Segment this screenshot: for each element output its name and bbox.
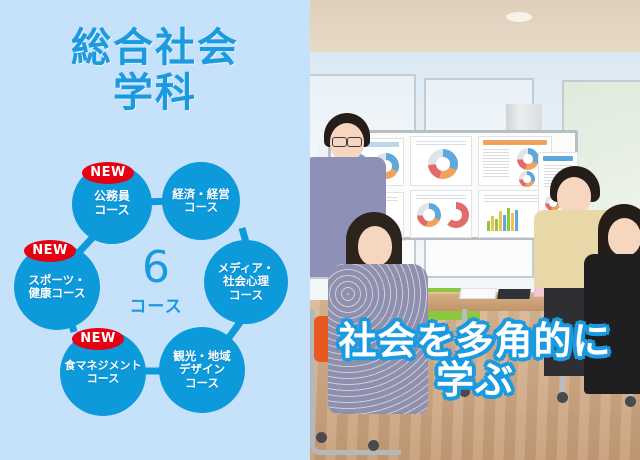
poster-text-lines [483, 149, 509, 177]
course-hexagon-diagram: 6 コース 公務員 コース NEW 経済・経営 コース メディア・ 社会心理 コ… [4, 152, 306, 444]
tablet-device [497, 289, 530, 299]
poster-text-lines [416, 195, 466, 199]
photo-scene: 社会を多角的に 学ぶ [310, 0, 640, 460]
course-node-komuin-label: 公務員 コース [94, 190, 130, 218]
page-title: 総合社会 学科 [0, 26, 310, 116]
poster-bar-chart [487, 207, 518, 231]
new-badge-komuin: NEW [82, 162, 134, 184]
glasses-icon [347, 137, 362, 147]
photo-caption-line1: 社会を多角的に [310, 322, 640, 361]
course-node-kanko[interactable]: 観光・地域 デザイン コース [159, 327, 245, 413]
face [358, 226, 392, 266]
poster-donut-chart [428, 149, 458, 179]
course-node-sports-label: スポーツ・ 健康コース [28, 274, 85, 300]
course-count: 6 コース [108, 246, 204, 317]
poster-text-lines [416, 141, 466, 146]
page-title-line1: 総合社会 [0, 26, 310, 71]
poster-item [410, 136, 472, 186]
chair-caster [316, 432, 327, 443]
course-count-number: 6 [108, 246, 204, 290]
course-node-media[interactable]: メディア・ 社会心理 コース [204, 240, 288, 324]
course-node-shoku-label: 食マネジメント コース [65, 360, 142, 385]
photo-caption: 社会を多角的に 学ぶ [310, 322, 640, 400]
poster-donut-chart [443, 202, 469, 228]
course-node-kanko-label: 観光・地域 デザイン コース [173, 350, 231, 390]
classroom-photo: 社会を多角的に 学ぶ [310, 0, 640, 460]
ceiling-light-icon [506, 12, 532, 22]
poster-text-lines [484, 195, 546, 204]
left-info-panel: 総合社会 学科 6 コース 公務員 コース NE [0, 0, 310, 460]
new-badge-shoku: NEW [72, 328, 124, 350]
photo-caption-line2: 学ぶ [310, 361, 640, 400]
course-node-keizai-label: 経済・経営 コース [172, 188, 230, 214]
course-node-keizai[interactable]: 経済・経営 コース [162, 162, 240, 240]
document-sheet [459, 288, 497, 299]
course-count-unit: コース [108, 292, 204, 317]
glasses-icon [332, 137, 347, 147]
course-node-media-label: メディア・ 社会心理 コース [218, 262, 275, 302]
page-title-line2: 学科 [0, 71, 310, 116]
poster-pie-chart [519, 171, 535, 187]
new-badge-sports: NEW [24, 240, 76, 262]
poster-title-bar [543, 156, 573, 161]
poster-title-bar [483, 140, 547, 145]
face [608, 218, 640, 256]
department-promo-banner: 総合社会 学科 6 コース 公務員 コース NE [0, 0, 640, 460]
poster-donut-chart [517, 148, 539, 170]
